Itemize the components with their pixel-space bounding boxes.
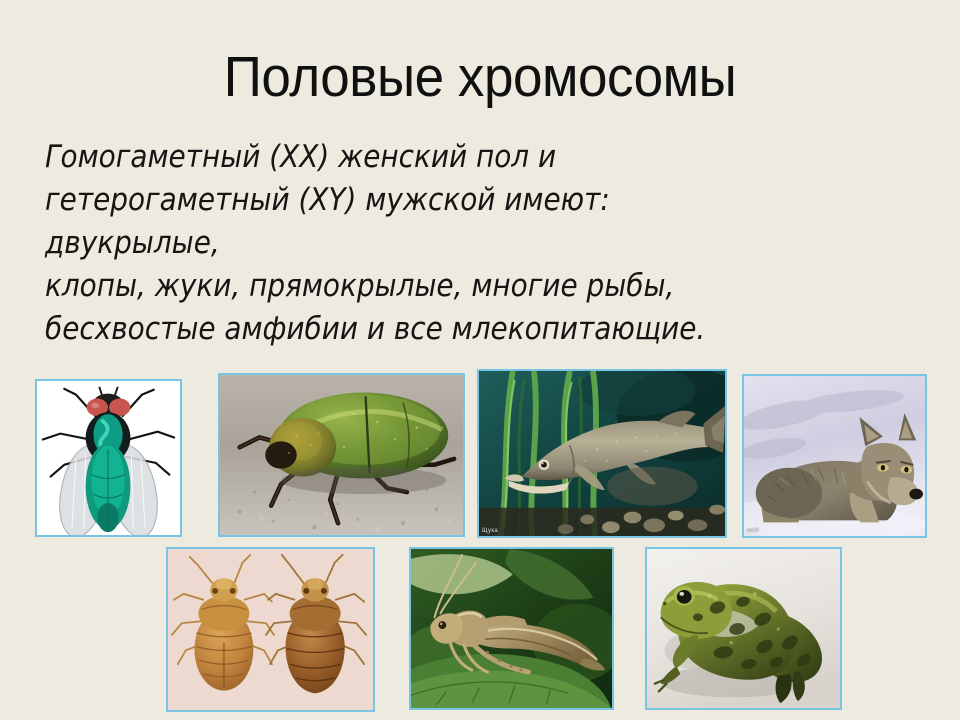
wolf-illustration bbox=[744, 376, 925, 536]
green-rose-chafer-beetle-photo bbox=[218, 373, 465, 537]
beetle-illustration bbox=[220, 375, 463, 535]
grey-wolf-photo: wolf bbox=[742, 374, 927, 538]
bed-bugs-photo bbox=[166, 547, 375, 712]
frog-illustration bbox=[647, 549, 840, 708]
slide-canvas: Половые хромосомы Гомогаметный (XX) женс… bbox=[0, 0, 960, 720]
pike-illustration bbox=[479, 371, 725, 536]
grasshopper-illustration bbox=[411, 549, 612, 708]
blowfly-illustration bbox=[37, 381, 180, 535]
page-title: Половые хромосомы bbox=[34, 48, 927, 108]
bedbugs-illustration bbox=[168, 549, 373, 710]
pike-fish-photo: Щука bbox=[477, 369, 727, 538]
green-blowfly-photo bbox=[35, 379, 182, 537]
green-frog-photo bbox=[645, 547, 842, 710]
body-paragraph: Гомогаметный (XX) женский пол и гетерога… bbox=[45, 136, 792, 351]
grasshopper-photo bbox=[409, 547, 614, 710]
